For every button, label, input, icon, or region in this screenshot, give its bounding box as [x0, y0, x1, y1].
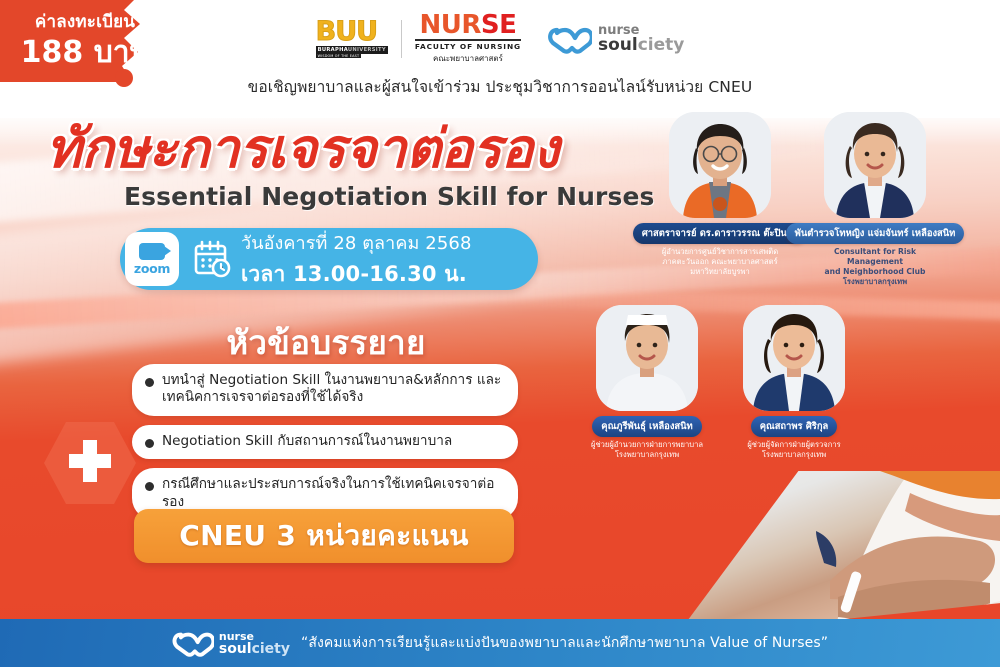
buu-wordmark: BUU — [316, 20, 377, 45]
speaker-affiliation-1: ผู้อำนวยการศูนย์วิชาการสารเสพติด ภาคตะวั… — [662, 247, 778, 277]
soulciety-line2-bold: soul — [598, 35, 638, 55]
soulciety-heart-icon — [548, 24, 592, 54]
buu-sub-light: UNIVERSITY — [348, 47, 386, 53]
faculty-of-nursing-logo: NURSE FACULTY OF NURSING คณะพยาบาลศาสตร์ — [415, 13, 521, 65]
footer-soulciety-logo: nurse soulciety — [172, 629, 290, 657]
nurse-wordmark-part2: SE — [481, 10, 517, 40]
speaker-photo-4 — [743, 305, 845, 411]
topics-heading: หัวข้อบรรยาย — [126, 316, 526, 369]
medical-cross-hexagon-icon — [42, 418, 138, 508]
video-camera-icon — [139, 243, 165, 260]
nurse-thai-label: คณะพยาบาลศาสตร์ — [433, 52, 503, 65]
affiliation-line: มหาวิทยาลัยบูรพา — [662, 267, 778, 277]
footer-tagline: “สังคมแห่งการเรียนรู้และแบ่งปันของพยาบาล… — [301, 632, 828, 654]
speaker-affiliation-2: Consultant for Risk Management and Neigh… — [808, 247, 942, 287]
nurse-wordmark-part1: NUR — [419, 10, 480, 40]
speaker-name-4: คุณสถาพร ศิริกุล — [751, 416, 838, 437]
topic-text: กรณีศึกษาและประสบการณ์จริงในการใช้เทคนิค… — [162, 476, 505, 511]
logo-row: BUU BURAPHAUNIVERSITY WISDOM OF THE EAST… — [0, 16, 1000, 62]
title-thai: ทักษะการเจรจาต่อรอง — [46, 122, 646, 176]
soulciety-heart-icon — [172, 629, 214, 657]
footer-logo-light: ciety — [252, 641, 290, 657]
footer-logo-bold: soul — [219, 641, 252, 657]
speaker-card-3: คุณภูรีพันธุ์ เหลืองสนิท ผู้ช่วยผู้อำนวย… — [583, 305, 711, 460]
affiliation-line: ผู้อำนวยการศูนย์วิชาการสารเสพติด — [662, 247, 778, 257]
date-time-text: วันอังคารที่ 28 ตุลาคม 2568 เวลา 13.00-1… — [241, 228, 472, 291]
speaker-photo-3 — [596, 305, 698, 411]
soulciety-line2: soulciety — [598, 37, 684, 54]
affiliation-line: ภาคตะวันออก คณะพยาบาลศาสตร์ — [662, 257, 778, 267]
nurse-wordmark: NURSE — [419, 13, 516, 37]
bullet-dot-icon — [145, 482, 154, 491]
logo-divider-1 — [401, 20, 402, 58]
speaker-name-2: พันตำรวจโทหญิง แจ่มจันทร์ เหลืองสนิท — [786, 223, 965, 244]
topics-list: บทนำสู่ Negotiation Skill ในงานพยาบาล&หล… — [132, 364, 518, 520]
calendar-clock-icon — [193, 239, 233, 279]
footer-wordmark: nurse soulciety — [219, 631, 290, 656]
date-time-bar: zoom วันอังคารที่ 28 ตุลาคม 2568 เวลา 13… — [120, 228, 538, 290]
affiliation-line: ผู้ช่วยผู้จัดการฝ่ายผู้ตรวจการ — [747, 440, 840, 450]
speaker-card-4: คุณสถาพร ศิริกุล ผู้ช่วยผู้จัดการฝ่ายผู้… — [730, 305, 858, 460]
footer-logo-line2: soulciety — [219, 642, 290, 656]
buu-subtitle: BURAPHAUNIVERSITY — [316, 46, 388, 54]
affiliation-line: Consultant for Risk Management — [808, 247, 942, 267]
topic-text: บทนำสู่ Negotiation Skill ในงานพยาบาล&หล… — [162, 372, 505, 407]
soulciety-line2-light: ciety — [638, 35, 685, 55]
nurse-rule — [415, 39, 521, 41]
footer-bar: nurse soulciety “สังคมแห่งการเรียนรู้และ… — [0, 619, 1000, 667]
bullet-dot-icon — [145, 439, 154, 448]
cneu-credit-banner: CNEU 3 หน่วยคะแนน — [134, 509, 514, 563]
affiliation-line: ผู้ช่วยผู้อำนวยการฝ่ายการพยาบาล — [591, 440, 703, 450]
nurse-english-label: FACULTY OF NURSING — [415, 42, 521, 51]
affiliation-line: โรงพยาบาลกรุงเทพ — [747, 450, 840, 460]
speaker-name-1: ศาสตราจารย์ ดร.ดาราวรรณ ต๊ะปินตา — [633, 223, 807, 244]
buu-motto: WISDOM OF THE EAST — [316, 54, 362, 58]
event-date: วันอังคารที่ 28 ตุลาคม 2568 — [241, 228, 472, 257]
nurse-soulciety-logo: nurse soulciety — [548, 24, 684, 54]
topic-item[interactable]: Negotiation Skill กับสถานการณ์ในงานพยาบา… — [132, 425, 518, 459]
speaker-card-2: พันตำรวจโทหญิง แจ่มจันทร์ เหลืองสนิท Con… — [808, 112, 942, 287]
zoom-label: zoom — [134, 261, 170, 276]
affiliation-line: and Neighborhood Club — [808, 267, 942, 277]
speaker-portrait-illustration — [596, 305, 698, 411]
buu-logo: BUU BURAPHAUNIVERSITY WISDOM OF THE EAST — [316, 20, 388, 58]
event-time: เวลา 13.00-16.30 น. — [241, 258, 472, 291]
speaker-affiliation-3: ผู้ช่วยผู้อำนวยการฝ่ายการพยาบาล โรงพยาบา… — [591, 440, 703, 460]
cneu-credit-label: CNEU 3 หน่วยคะแนน — [179, 514, 468, 558]
bullet-dot-icon — [145, 378, 154, 387]
footer-content: nurse soulciety “สังคมแห่งการเรียนรู้และ… — [0, 619, 1000, 667]
speaker-portrait-illustration — [669, 112, 771, 218]
speaker-card-1: ศาสตราจารย์ ดร.ดาราวรรณ ต๊ะปินตา ผู้อำนว… — [655, 112, 785, 277]
zoom-logo: zoom — [125, 232, 179, 286]
poster-canvas: ค่าลงทะเบียน 188 บาท BUU BURAPHAUNIVERSI… — [0, 0, 1000, 667]
topic-text: Negotiation Skill กับสถานการณ์ในงานพยาบา… — [162, 433, 452, 450]
topic-item[interactable]: บทนำสู่ Negotiation Skill ในงานพยาบาล&หล… — [132, 364, 518, 416]
soulciety-wordmark: nurse soulciety — [598, 24, 684, 54]
speaker-photo-1 — [669, 112, 771, 218]
invitation-line: ขอเชิญพยาบาลและผู้สนใจเข้าร่วม ประชุมวิช… — [0, 74, 1000, 99]
speaker-name-3: คุณภูรีพันธุ์ เหลืองสนิท — [592, 416, 701, 437]
speaker-affiliation-4: ผู้ช่วยผู้จัดการฝ่ายผู้ตรวจการ โรงพยาบาล… — [747, 440, 840, 460]
speaker-photo-2 — [824, 112, 926, 218]
speaker-portrait-illustration — [743, 305, 845, 411]
affiliation-line: โรงพยาบาลกรุงเทพ — [591, 450, 703, 460]
affiliation-line: โรงพยาบาลกรุงเทพ — [808, 277, 942, 287]
speaker-portrait-illustration — [824, 112, 926, 218]
title-english: Essential Negotiation Skill for Nurses — [124, 182, 684, 211]
buu-sub-bold: BURAPHA — [318, 47, 348, 53]
